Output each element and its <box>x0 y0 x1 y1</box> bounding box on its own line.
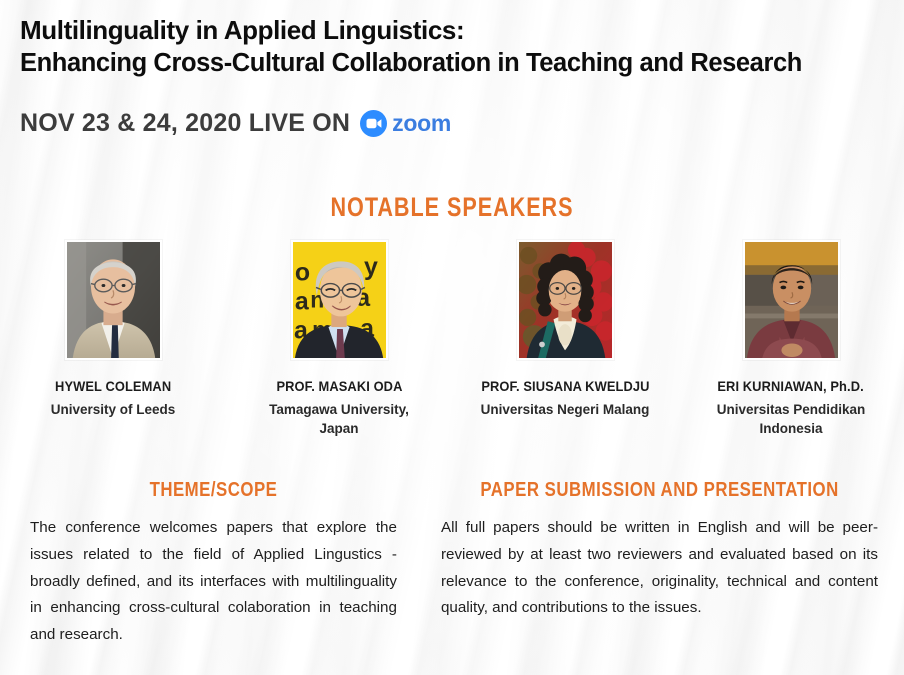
svg-text:y: y <box>363 253 377 281</box>
zoom-wordmark: zoom <box>392 112 451 135</box>
speaker-portrait-masaki-oda: oy aa aa nm <box>293 242 386 358</box>
speaker-card: oy aa aa nm <box>226 240 452 438</box>
speaker-photo-frame: oy aa aa nm <box>291 240 388 360</box>
theme-scope-body: The conference welcomes papers that expl… <box>30 515 397 649</box>
speaker-name: PROF. SIUSANA KWELDJU <box>481 378 649 394</box>
poster-content: Multilinguality in Applied Linguistics: … <box>0 0 904 675</box>
speaker-affiliation: University of Leeds <box>51 400 176 419</box>
info-columns: THEME/SCOPE The conference welcomes pape… <box>0 478 904 649</box>
poster-title: Multilinguality in Applied Linguistics: … <box>20 14 890 79</box>
svg-text:o: o <box>294 259 309 287</box>
theme-scope-heading: THEME/SCOPE <box>63 478 364 502</box>
speaker-name: PROF. MASAKI ODA <box>276 378 402 394</box>
speaker-affiliation: Universitas Pendidikan Indonesia <box>705 400 877 438</box>
speaker-name: ERI KURNIAWAN, Ph.D. <box>718 378 864 394</box>
speaker-photo-frame <box>65 240 162 360</box>
event-date-row: NOV 23 & 24, 2020 LIVE ON zoom <box>20 109 451 138</box>
speaker-photo-frame <box>743 240 840 360</box>
speaker-name: HYWEL COLEMAN <box>55 378 171 394</box>
paper-submission-heading: PAPER SUBMISSION AND PRESENTATION <box>480 478 838 502</box>
paper-submission-column: PAPER SUBMISSION AND PRESENTATION All fu… <box>433 478 904 649</box>
title-line-1: Multilinguality in Applied Linguistics: <box>20 14 890 47</box>
speaker-portrait-siusana-kweldju <box>519 242 612 358</box>
speaker-affiliation: Universitas Negeri Malang <box>481 400 650 419</box>
title-line-2: Enhancing Cross-Cultural Collaboration i… <box>20 47 890 79</box>
theme-scope-column: THEME/SCOPE The conference welcomes pape… <box>0 478 433 649</box>
speaker-affiliation: Tamagawa University, Japan <box>253 400 425 438</box>
speaker-card: HYWEL COLEMAN University of Leeds <box>0 240 226 438</box>
speaker-portrait-hywel-coleman <box>67 242 160 358</box>
notable-speakers-heading: NOTABLE SPEAKERS <box>90 192 813 223</box>
conference-poster: Multilinguality in Applied Linguistics: … <box>0 0 904 675</box>
speaker-photo-frame <box>517 240 614 360</box>
speaker-portrait-eri-kurniawan <box>745 242 838 358</box>
zoom-logo: zoom <box>360 110 451 137</box>
event-date-text: NOV 23 & 24, 2020 LIVE ON <box>20 109 350 138</box>
speakers-row: HYWEL COLEMAN University of Leeds oy aa … <box>0 240 904 438</box>
svg-text:a: a <box>294 288 309 316</box>
zoom-video-camera-icon <box>360 110 387 137</box>
speaker-card: PROF. SIUSANA KWELDJU Universitas Negeri… <box>452 240 678 438</box>
paper-submission-body: All full papers should be written in Eng… <box>441 515 878 622</box>
speaker-card: ERI KURNIAWAN, Ph.D. Universitas Pendidi… <box>678 240 904 438</box>
